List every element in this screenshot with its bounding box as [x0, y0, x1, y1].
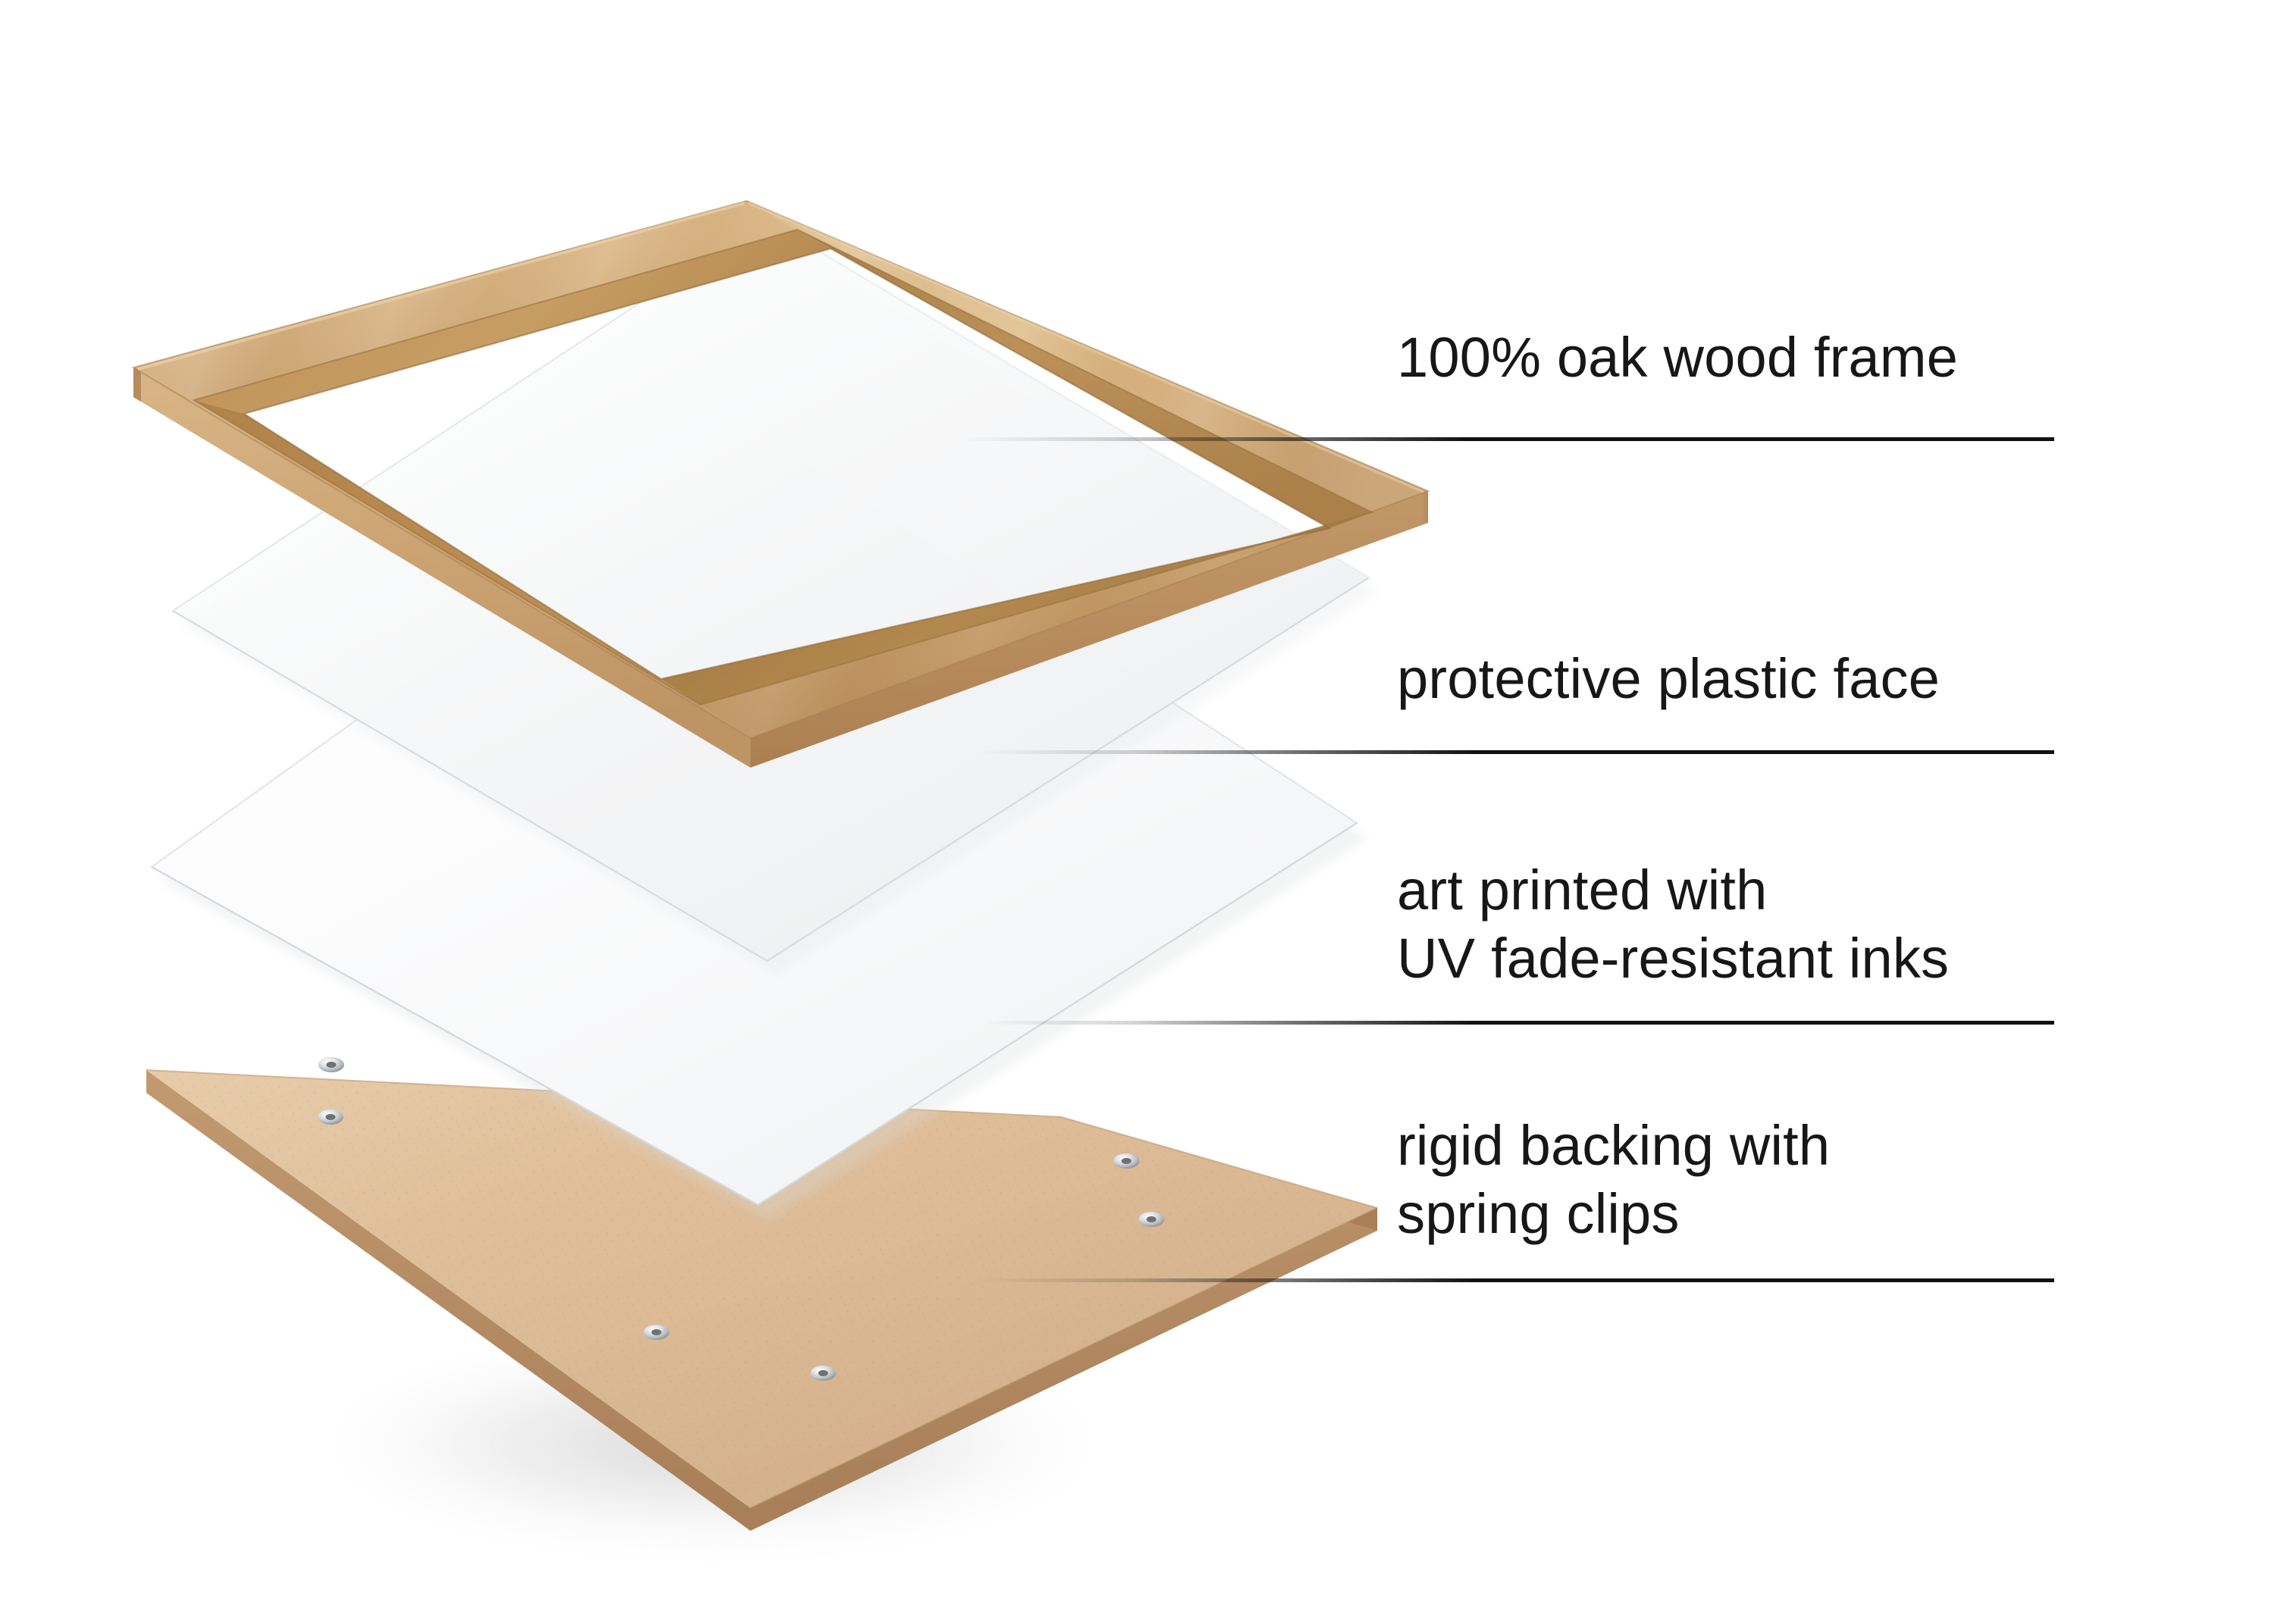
- callout-art-print[interactable]: art printed with UV fade-resistant inks: [1397, 856, 1949, 993]
- diagram-canvas: 100% oak wood frame protective plastic f…: [0, 0, 2274, 1624]
- exploded-view-illustration: [0, 0, 2274, 1624]
- spring-clip[interactable]: [644, 1325, 669, 1340]
- callout-plastic-face[interactable]: protective plastic face: [1397, 645, 1940, 713]
- callout-oak-frame-line1: 100% oak wood frame: [1397, 324, 1958, 392]
- spring-clip[interactable]: [1139, 1212, 1164, 1227]
- callout-plastic-face-line1: protective plastic face: [1397, 645, 1940, 713]
- spring-clip[interactable]: [318, 1057, 344, 1072]
- callout-art-print-line1: art printed with: [1397, 856, 1949, 925]
- callout-oak-frame[interactable]: 100% oak wood frame: [1397, 324, 1958, 392]
- callout-rigid-backing-line2: spring clips: [1397, 1180, 1830, 1248]
- callout-rigid-backing-line1: rigid backing with: [1397, 1112, 1830, 1180]
- spring-clip[interactable]: [1114, 1153, 1139, 1169]
- callout-rigid-backing[interactable]: rigid backing with spring clips: [1397, 1112, 1830, 1249]
- callout-art-print-line2: UV fade-resistant inks: [1397, 925, 1949, 993]
- spring-clip[interactable]: [810, 1366, 836, 1381]
- spring-clip[interactable]: [318, 1109, 343, 1125]
- frame-corner-west: [133, 368, 141, 402]
